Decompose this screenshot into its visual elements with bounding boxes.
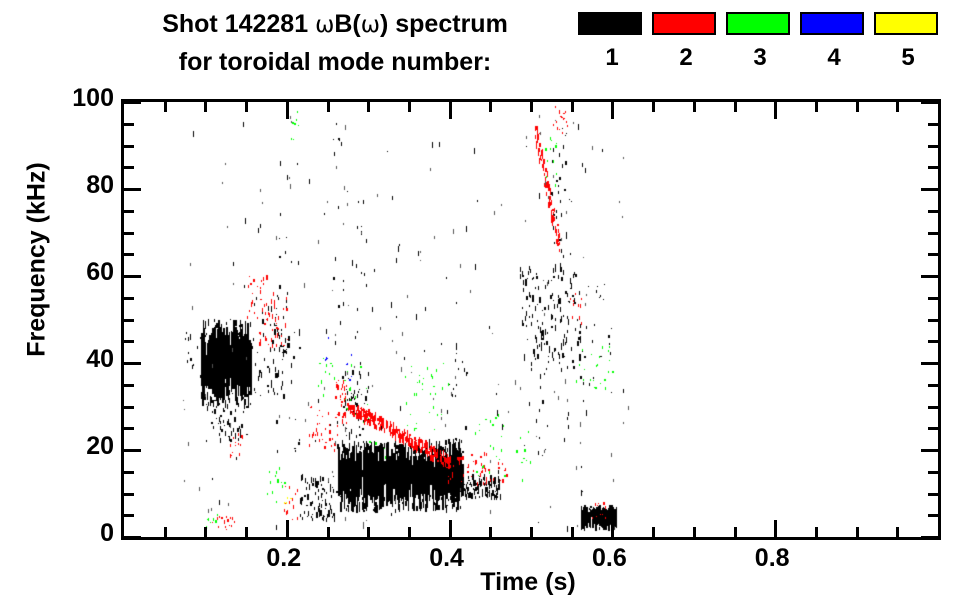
- spectrogram-figure: Shot 142281 ωB(ω) spectrum for toroidal …: [0, 0, 963, 615]
- x-axis-tick-labels: 0.20.40.60.8: [0, 0, 963, 615]
- x-axis-title: Time (s): [328, 568, 728, 597]
- x-tick-label-0.8: 0.8: [732, 546, 812, 571]
- y-axis-title: Frequency (kHz): [23, 90, 52, 430]
- x-tick-label-0.2: 0.2: [244, 546, 324, 571]
